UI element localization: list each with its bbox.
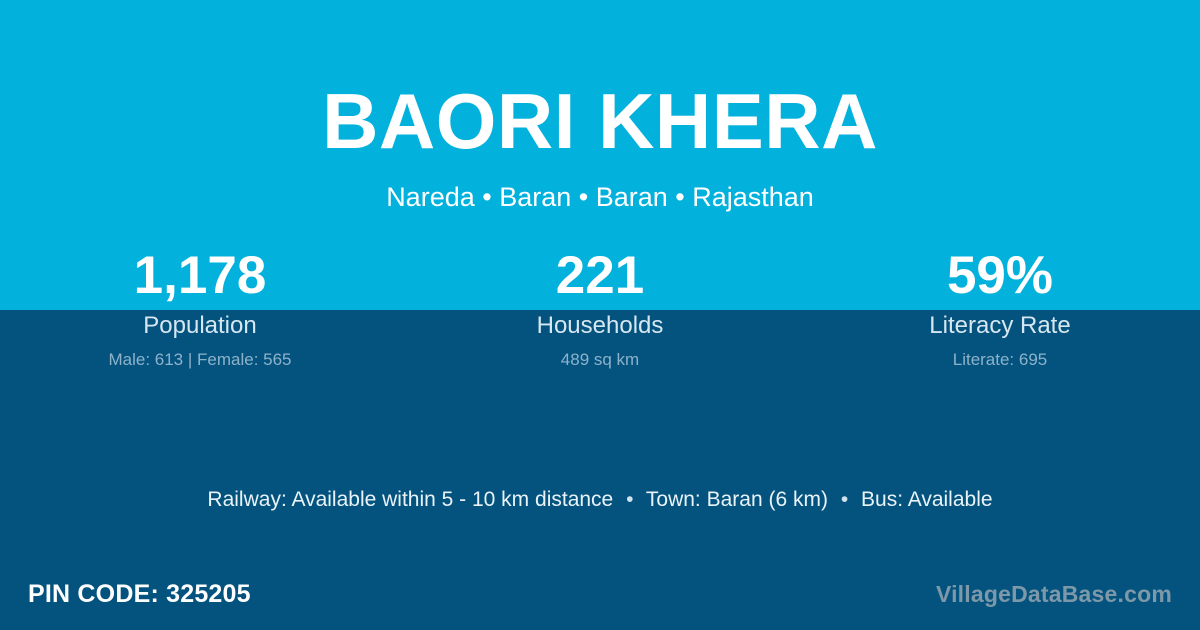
stat-value: 1,178 bbox=[0, 245, 400, 307]
page-title: BAORI KHERA bbox=[0, 82, 1200, 162]
stat-label: Households bbox=[400, 312, 800, 340]
stat-detail: Male: 613 | Female: 565 bbox=[0, 350, 400, 370]
stat-label: Population bbox=[0, 312, 400, 340]
stats-row: 1,178 Population Male: 613 | Female: 565… bbox=[0, 245, 1200, 370]
village-info-card: BAORI KHERA Nareda • Baran • Baran • Raj… bbox=[0, 0, 1200, 630]
bullet-separator-icon: • bbox=[834, 485, 855, 515]
stat-detail: Literate: 695 bbox=[800, 350, 1200, 370]
site-watermark: VillageDataBase.com bbox=[936, 580, 1172, 608]
infrastructure-line: Railway: Available within 5 - 10 km dist… bbox=[0, 485, 1200, 515]
stat-literacy-rate: 59% Literacy Rate Literate: 695 bbox=[800, 245, 1200, 370]
footer: PIN CODE: 325205 VillageDataBase.com bbox=[0, 558, 1200, 630]
stat-population: 1,178 Population Male: 613 | Female: 565 bbox=[0, 245, 400, 370]
bullet-separator-icon: • bbox=[619, 485, 640, 515]
infra-item-railway: Railway: Available within 5 - 10 km dist… bbox=[207, 488, 613, 511]
stat-value: 221 bbox=[400, 245, 800, 307]
stat-value: 59% bbox=[800, 245, 1200, 307]
infra-item-town: Town: Baran (6 km) bbox=[646, 488, 828, 511]
stat-label: Literacy Rate bbox=[800, 312, 1200, 340]
pin-code: PIN CODE: 325205 bbox=[28, 579, 251, 609]
stat-households: 221 Households 489 sq km bbox=[400, 245, 800, 370]
stat-detail: 489 sq km bbox=[400, 350, 800, 370]
infra-item-bus: Bus: Available bbox=[861, 488, 993, 511]
breadcrumb: Nareda • Baran • Baran • Rajasthan bbox=[0, 181, 1200, 213]
